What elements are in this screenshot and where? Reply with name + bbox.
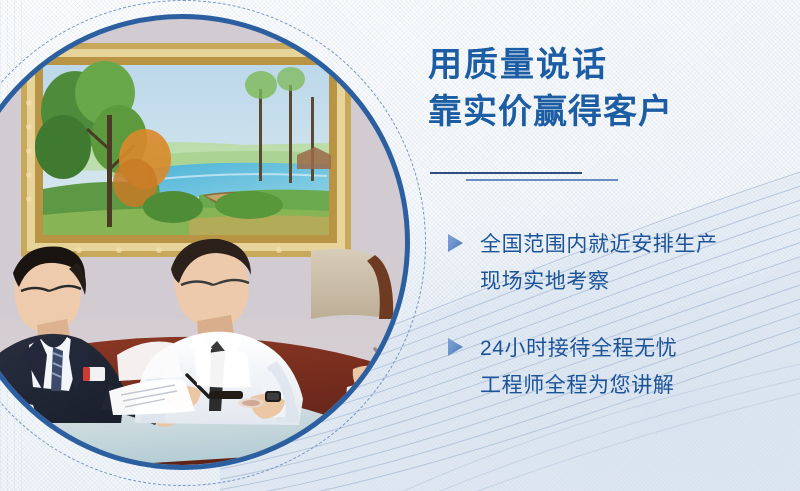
- divider-line-upper: [430, 172, 582, 174]
- bullet-1-line-1: 全国范围内就近安排生产: [480, 226, 800, 263]
- bullet-item-1: 全国范围内就近安排生产 现场实地考察: [424, 226, 800, 300]
- bullet-item-2: 24小时接待全程无忧 工程师全程为您讲解: [424, 330, 800, 404]
- bullet-2-line-1: 24小时接待全程无忧: [480, 330, 800, 367]
- divider: [430, 172, 680, 186]
- bullet-list: 全国范围内就近安排生产 现场实地考察: [424, 226, 800, 404]
- content-column: 用质量说话 靠实价赢得客户: [424, 0, 800, 491]
- bullet-2-line-2: 工程师全程为您讲解: [480, 367, 800, 404]
- play-arrow-icon: [444, 232, 466, 254]
- photo-circle: [0, 14, 410, 470]
- headline: 用质量说话 靠实价赢得客户: [428, 42, 673, 136]
- play-arrow-icon: [444, 336, 466, 358]
- headline-line-2: 靠实价赢得客户: [428, 89, 673, 136]
- divider-line-lower: [466, 179, 618, 181]
- bullet-1-line-2: 现场实地考察: [480, 263, 800, 300]
- promo-banner: 用质量说话 靠实价赢得客户: [0, 0, 800, 491]
- headline-line-1: 用质量说话: [428, 42, 673, 89]
